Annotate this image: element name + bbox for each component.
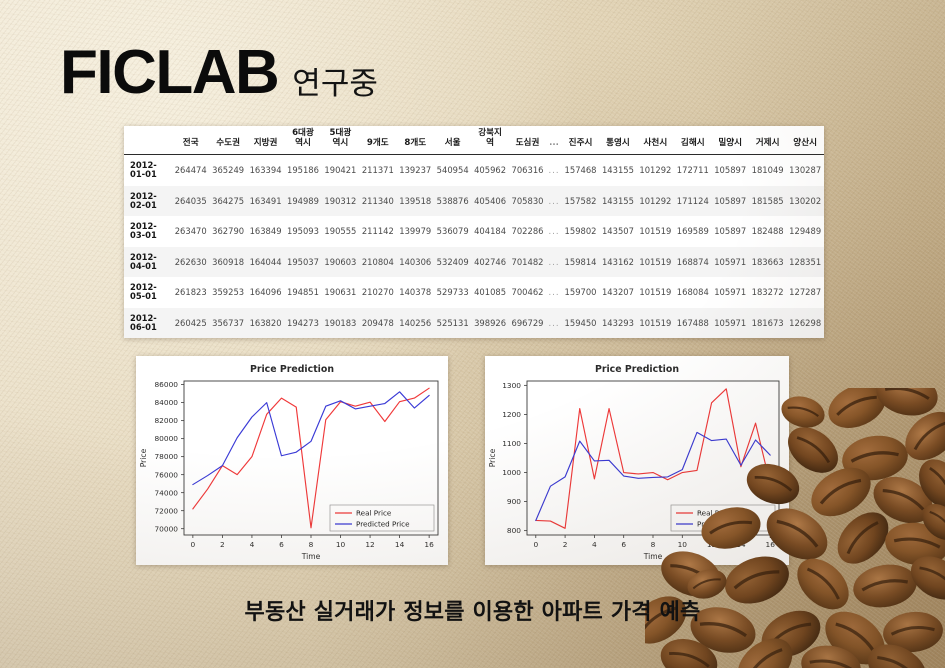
table-header-cell: 지방권 bbox=[247, 126, 284, 155]
coffee-bean-crease bbox=[883, 487, 925, 510]
table-cell: 538876 bbox=[434, 186, 471, 216]
table-header-row: 전국수도권지방권6대광역시5대광역시9개도8개도서울강북지역도심권...진주시통… bbox=[124, 126, 824, 155]
coffee-bean bbox=[828, 503, 898, 574]
table-row: 2012-05-01261823359253164096194851190631… bbox=[124, 277, 824, 307]
table-cell: 105971 bbox=[712, 247, 749, 277]
table-cell: 211340 bbox=[359, 186, 396, 216]
table-cell: 172711 bbox=[674, 155, 711, 186]
table-cell: 105971 bbox=[712, 277, 749, 307]
table-cell: 182488 bbox=[749, 216, 786, 246]
table-row: 2012-04-01262630360918164044195037190603… bbox=[124, 247, 824, 277]
x-tick-label: 2 bbox=[220, 540, 225, 549]
table-cell: 194989 bbox=[284, 186, 321, 216]
table-cell: 143507 bbox=[599, 216, 636, 246]
x-tick-label: 8 bbox=[309, 540, 314, 549]
table-cell: 540954 bbox=[434, 155, 471, 186]
table-header-cell: 통영시 bbox=[599, 126, 636, 155]
table-cell: 183272 bbox=[749, 277, 786, 307]
x-tick-label: 14 bbox=[395, 540, 405, 549]
x-axis-label: Time bbox=[301, 552, 321, 561]
table-cell: 364275 bbox=[209, 186, 246, 216]
dataframe-table: 전국수도권지방권6대광역시5대광역시9개도8개도서울강북지역도심권...진주시통… bbox=[124, 126, 824, 338]
y-tick-label: 72000 bbox=[154, 506, 178, 515]
table-cell: 163820 bbox=[247, 308, 284, 338]
plot-area-left: 0246810121416700007200074000760007800080… bbox=[136, 375, 448, 553]
table-cell: 405962 bbox=[471, 155, 508, 186]
y-tick-label: 74000 bbox=[154, 488, 178, 497]
table-cell: 262630 bbox=[172, 247, 209, 277]
table-cell: 195037 bbox=[284, 247, 321, 277]
table-header-cell: 8개도 bbox=[397, 126, 434, 155]
table-cell: 194851 bbox=[284, 277, 321, 307]
table-header-cell: ... bbox=[546, 126, 562, 155]
coffee-bean-crease bbox=[810, 658, 853, 668]
table-cell: 139979 bbox=[397, 216, 434, 246]
coffee-bean bbox=[882, 519, 945, 569]
line-chart-right: 02468101214168009001000110012001300TimeP… bbox=[485, 375, 789, 561]
table-cell: 157468 bbox=[562, 155, 599, 186]
table-cell: 168084 bbox=[674, 277, 711, 307]
x-tick-label: 16 bbox=[766, 540, 776, 549]
coffee-bean-crease bbox=[862, 578, 908, 590]
legend-label-real: Real Price bbox=[356, 509, 392, 518]
table-cell: 139237 bbox=[397, 155, 434, 186]
table-cell: 705830 bbox=[509, 186, 546, 216]
chart-title-right: Price Prediction bbox=[485, 356, 789, 375]
table-header-cell: 수도권 bbox=[209, 126, 246, 155]
table-cell: 360918 bbox=[209, 247, 246, 277]
table-cell: 195186 bbox=[284, 155, 321, 186]
coffee-bean bbox=[803, 458, 879, 526]
table-header: 전국수도권지방권6대광역시5대광역시9개도8개도서울강북지역도심권...진주시통… bbox=[124, 126, 824, 155]
table-cell: 260425 bbox=[172, 308, 209, 338]
x-tick-label: 8 bbox=[651, 540, 656, 549]
y-tick-label: 80000 bbox=[154, 434, 178, 443]
table-cell: 163491 bbox=[247, 186, 284, 216]
table-cell: 159700 bbox=[562, 277, 599, 307]
table-row-date: 2012-06-01 bbox=[124, 308, 172, 338]
table-row-date: 2012-02-01 bbox=[124, 186, 172, 216]
table-cell: 190183 bbox=[322, 308, 359, 338]
slide-canvas: FICLAB 연구중 전국수도권지방권6대광역시5대광역시9개도8개도서울강북지… bbox=[0, 0, 945, 668]
table-header-cell: 밀양시 bbox=[712, 126, 749, 155]
y-tick-label: 84000 bbox=[154, 398, 178, 407]
table-cell: 159450 bbox=[562, 308, 599, 338]
coffee-bean-crease bbox=[920, 564, 945, 588]
table-cell: 181049 bbox=[749, 155, 786, 186]
y-tick-label: 900 bbox=[507, 497, 521, 506]
table-cell: 159814 bbox=[562, 247, 599, 277]
coffee-bean-crease bbox=[894, 536, 940, 547]
chart-card-left: Price Prediction 02468101214167000072000… bbox=[136, 356, 448, 565]
table-cell: ... bbox=[546, 186, 562, 216]
table-cell: 261823 bbox=[172, 277, 209, 307]
table-cell: 264474 bbox=[172, 155, 209, 186]
title-row: FICLAB 연구중 bbox=[60, 42, 378, 104]
y-tick-label: 1100 bbox=[502, 439, 521, 448]
table-header-cell: 도심권 bbox=[509, 126, 546, 155]
table-cell: 143207 bbox=[599, 277, 636, 307]
coffee-bean bbox=[821, 388, 892, 436]
table-cell: 140378 bbox=[397, 277, 434, 307]
y-tick-label: 1000 bbox=[502, 468, 521, 477]
x-tick-label: 12 bbox=[365, 540, 374, 549]
brand-title: FICLAB bbox=[60, 42, 278, 104]
legend-label-real: Real Price bbox=[697, 509, 733, 518]
table-cell: 210804 bbox=[359, 247, 396, 277]
table-cell: 211371 bbox=[359, 155, 396, 186]
y-tick-label: 78000 bbox=[154, 452, 178, 461]
table-cell: 210270 bbox=[359, 277, 396, 307]
y-axis-label: Price bbox=[139, 448, 148, 467]
table-cell: 140256 bbox=[397, 308, 434, 338]
table-cell: 163394 bbox=[247, 155, 284, 186]
x-tick-label: 14 bbox=[736, 540, 746, 549]
table-cell: 101519 bbox=[637, 308, 674, 338]
coffee-bean-crease bbox=[851, 450, 899, 461]
coffee-bean-crease bbox=[912, 419, 945, 449]
table-cell: 525131 bbox=[434, 308, 471, 338]
table-cell: 101519 bbox=[637, 247, 674, 277]
table-cell: 398926 bbox=[471, 308, 508, 338]
table-cell: ... bbox=[546, 155, 562, 186]
line-chart-left: 0246810121416700007200074000760007800080… bbox=[136, 375, 448, 561]
table-cell: 696729 bbox=[509, 308, 546, 338]
table-cell: 167488 bbox=[674, 308, 711, 338]
table-cell: 190631 bbox=[322, 277, 359, 307]
table-cell: 159802 bbox=[562, 216, 599, 246]
x-tick-label: 6 bbox=[279, 540, 284, 549]
table-cell: 101519 bbox=[637, 277, 674, 307]
table-cell: 169589 bbox=[674, 216, 711, 246]
table-header-cell: 전국 bbox=[172, 126, 209, 155]
table-cell: 101519 bbox=[637, 216, 674, 246]
table-header-cell: 사천시 bbox=[637, 126, 674, 155]
table-cell: ... bbox=[546, 308, 562, 338]
table-cell: 181585 bbox=[749, 186, 786, 216]
table-cell: 143293 bbox=[599, 308, 636, 338]
coffee-bean-crease bbox=[885, 388, 930, 399]
table-cell: 356737 bbox=[209, 308, 246, 338]
table-cell: 143155 bbox=[599, 186, 636, 216]
table-cell: 700462 bbox=[509, 277, 546, 307]
coffee-bean bbox=[779, 418, 847, 482]
table-cell: 128351 bbox=[786, 247, 824, 277]
coffee-bean bbox=[896, 402, 945, 470]
table-header-cell: 김해시 bbox=[674, 126, 711, 155]
table-row: 2012-06-01260425356737163820194273190183… bbox=[124, 308, 824, 338]
coffee-bean-crease bbox=[845, 520, 878, 554]
table-cell: 190312 bbox=[322, 186, 359, 216]
table-cell: ... bbox=[546, 277, 562, 307]
table-cell: 190603 bbox=[322, 247, 359, 277]
coffee-bean bbox=[798, 641, 864, 668]
x-tick-label: 4 bbox=[592, 540, 597, 549]
table-cell: 264035 bbox=[172, 186, 209, 216]
slide-caption: 부동산 실거래가 정보를 이용한 아파트 가격 예측 bbox=[0, 594, 945, 626]
table-cell: 163849 bbox=[247, 216, 284, 246]
x-tick-label: 6 bbox=[621, 540, 626, 549]
table-row-date: 2012-01-01 bbox=[124, 155, 172, 186]
table-cell: 404184 bbox=[471, 216, 508, 246]
table-row-date: 2012-03-01 bbox=[124, 216, 172, 246]
x-tick-label: 2 bbox=[563, 540, 568, 549]
coffee-bean-crease bbox=[891, 626, 934, 635]
table-header-cell: 양산시 bbox=[786, 126, 824, 155]
table-header-cell: 강북지역 bbox=[471, 126, 508, 155]
table-cell: 211142 bbox=[359, 216, 396, 246]
table-body: 2012-01-01264474365249163394195186190421… bbox=[124, 155, 824, 338]
coffee-bean-crease bbox=[877, 654, 918, 668]
table-cell: 529733 bbox=[434, 277, 471, 307]
coffee-bean bbox=[728, 628, 802, 668]
table-cell: 143162 bbox=[599, 247, 636, 277]
table-cell: 127287 bbox=[786, 277, 824, 307]
table-cell: 129489 bbox=[786, 216, 824, 246]
coffee-bean bbox=[910, 451, 945, 517]
x-tick-label: 10 bbox=[336, 540, 346, 549]
y-tick-label: 70000 bbox=[154, 524, 178, 533]
x-tick-label: 12 bbox=[707, 540, 716, 549]
coffee-bean bbox=[915, 497, 945, 547]
table-row: 2012-02-01264035364275163491194989190312… bbox=[124, 186, 824, 216]
table-header-cell: 9개도 bbox=[359, 126, 396, 155]
table-cell: 405406 bbox=[471, 186, 508, 216]
table-cell: 263470 bbox=[172, 216, 209, 246]
table-cell: 701482 bbox=[509, 247, 546, 277]
x-tick-label: 16 bbox=[424, 540, 434, 549]
y-tick-label: 1300 bbox=[502, 381, 521, 390]
table-row: 2012-01-01264474365249163394195186190421… bbox=[124, 155, 824, 186]
coffee-bean-crease bbox=[733, 568, 779, 589]
table-cell: 706316 bbox=[509, 155, 546, 186]
table-header-cell: 서울 bbox=[434, 126, 471, 155]
coffee-bean bbox=[655, 632, 723, 668]
y-tick-label: 1200 bbox=[502, 410, 521, 419]
table-row: 2012-03-01263470362790163849195093190555… bbox=[124, 216, 824, 246]
table-cell: 105971 bbox=[712, 308, 749, 338]
coffee-bean-crease bbox=[745, 646, 782, 668]
chart-title-left: Price Prediction bbox=[136, 356, 448, 375]
table-cell: 401085 bbox=[471, 277, 508, 307]
coffee-bean-crease bbox=[692, 577, 720, 589]
table-cell: 190421 bbox=[322, 155, 359, 186]
table-cell: 143155 bbox=[599, 155, 636, 186]
table-header-cell: 6대광역시 bbox=[284, 126, 321, 155]
coffee-bean-crease bbox=[836, 393, 877, 414]
table-cell: ... bbox=[546, 216, 562, 246]
dataframe-card: 전국수도권지방권6대광역시5대광역시9개도8개도서울강북지역도심권...진주시통… bbox=[124, 126, 824, 338]
table-header-index bbox=[124, 126, 172, 155]
table-header-cell: 5대광역시 bbox=[322, 126, 359, 155]
table-cell: 195093 bbox=[284, 216, 321, 246]
table-cell: 171124 bbox=[674, 186, 711, 216]
y-tick-label: 86000 bbox=[154, 380, 178, 389]
x-axis-label: Time bbox=[643, 552, 663, 561]
table-cell: 209478 bbox=[359, 308, 396, 338]
table-cell: 105897 bbox=[712, 155, 749, 186]
x-tick-label: 0 bbox=[533, 540, 538, 549]
table-row-date: 2012-05-01 bbox=[124, 277, 172, 307]
plot-area-right: 02468101214168009001000110012001300TimeP… bbox=[485, 375, 789, 553]
table-cell: 362790 bbox=[209, 216, 246, 246]
y-tick-label: 82000 bbox=[154, 416, 178, 425]
x-tick-label: 10 bbox=[678, 540, 688, 549]
table-cell: 157582 bbox=[562, 186, 599, 216]
table-header-cell: 거제시 bbox=[749, 126, 786, 155]
coffee-bean bbox=[860, 635, 934, 668]
table-cell: 702286 bbox=[509, 216, 546, 246]
table-header-cell: 진주시 bbox=[562, 126, 599, 155]
table-cell: 139518 bbox=[397, 186, 434, 216]
table-cell: 190555 bbox=[322, 216, 359, 246]
table-cell: 101292 bbox=[637, 155, 674, 186]
table-cell: 365249 bbox=[209, 155, 246, 186]
table-cell: 130202 bbox=[786, 186, 824, 216]
coffee-bean bbox=[839, 432, 910, 485]
table-cell: 105897 bbox=[712, 186, 749, 216]
legend-label-predicted: Predicted Price bbox=[697, 520, 751, 529]
table-cell: 164044 bbox=[247, 247, 284, 277]
table-cell: 402746 bbox=[471, 247, 508, 277]
coffee-bean bbox=[872, 388, 941, 421]
coffee-bean-crease bbox=[930, 466, 945, 500]
table-cell: 126298 bbox=[786, 308, 824, 338]
table-cell: 181673 bbox=[749, 308, 786, 338]
y-axis-label: Price bbox=[488, 448, 497, 467]
brand-subtitle: 연구중 bbox=[292, 69, 378, 104]
coffee-bean-crease bbox=[797, 434, 831, 462]
coffee-bean-crease bbox=[819, 477, 861, 504]
table-cell: 532409 bbox=[434, 247, 471, 277]
table-cell: 194273 bbox=[284, 308, 321, 338]
table-cell: 536079 bbox=[434, 216, 471, 246]
table-cell: 183663 bbox=[749, 247, 786, 277]
table-cell: 105897 bbox=[712, 216, 749, 246]
table-cell: 164096 bbox=[247, 277, 284, 307]
x-tick-label: 4 bbox=[250, 540, 255, 549]
chart-card-right: Price Prediction 02468101214168009001000… bbox=[485, 356, 789, 565]
table-cell: 140306 bbox=[397, 247, 434, 277]
coffee-bean-crease bbox=[669, 650, 710, 667]
table-row-date: 2012-04-01 bbox=[124, 247, 172, 277]
table-cell: 168874 bbox=[674, 247, 711, 277]
coffee-bean-crease bbox=[788, 405, 819, 416]
y-tick-label: 76000 bbox=[154, 470, 178, 479]
legend-label-predicted: Predicted Price bbox=[356, 520, 410, 529]
x-tick-label: 0 bbox=[191, 540, 196, 549]
table-cell: 101292 bbox=[637, 186, 674, 216]
table-cell: 130287 bbox=[786, 155, 824, 186]
y-tick-label: 800 bbox=[507, 526, 521, 535]
table-cell: ... bbox=[546, 247, 562, 277]
table-cell: 359253 bbox=[209, 277, 246, 307]
coffee-bean bbox=[866, 468, 940, 532]
coffee-bean-crease bbox=[930, 510, 945, 533]
